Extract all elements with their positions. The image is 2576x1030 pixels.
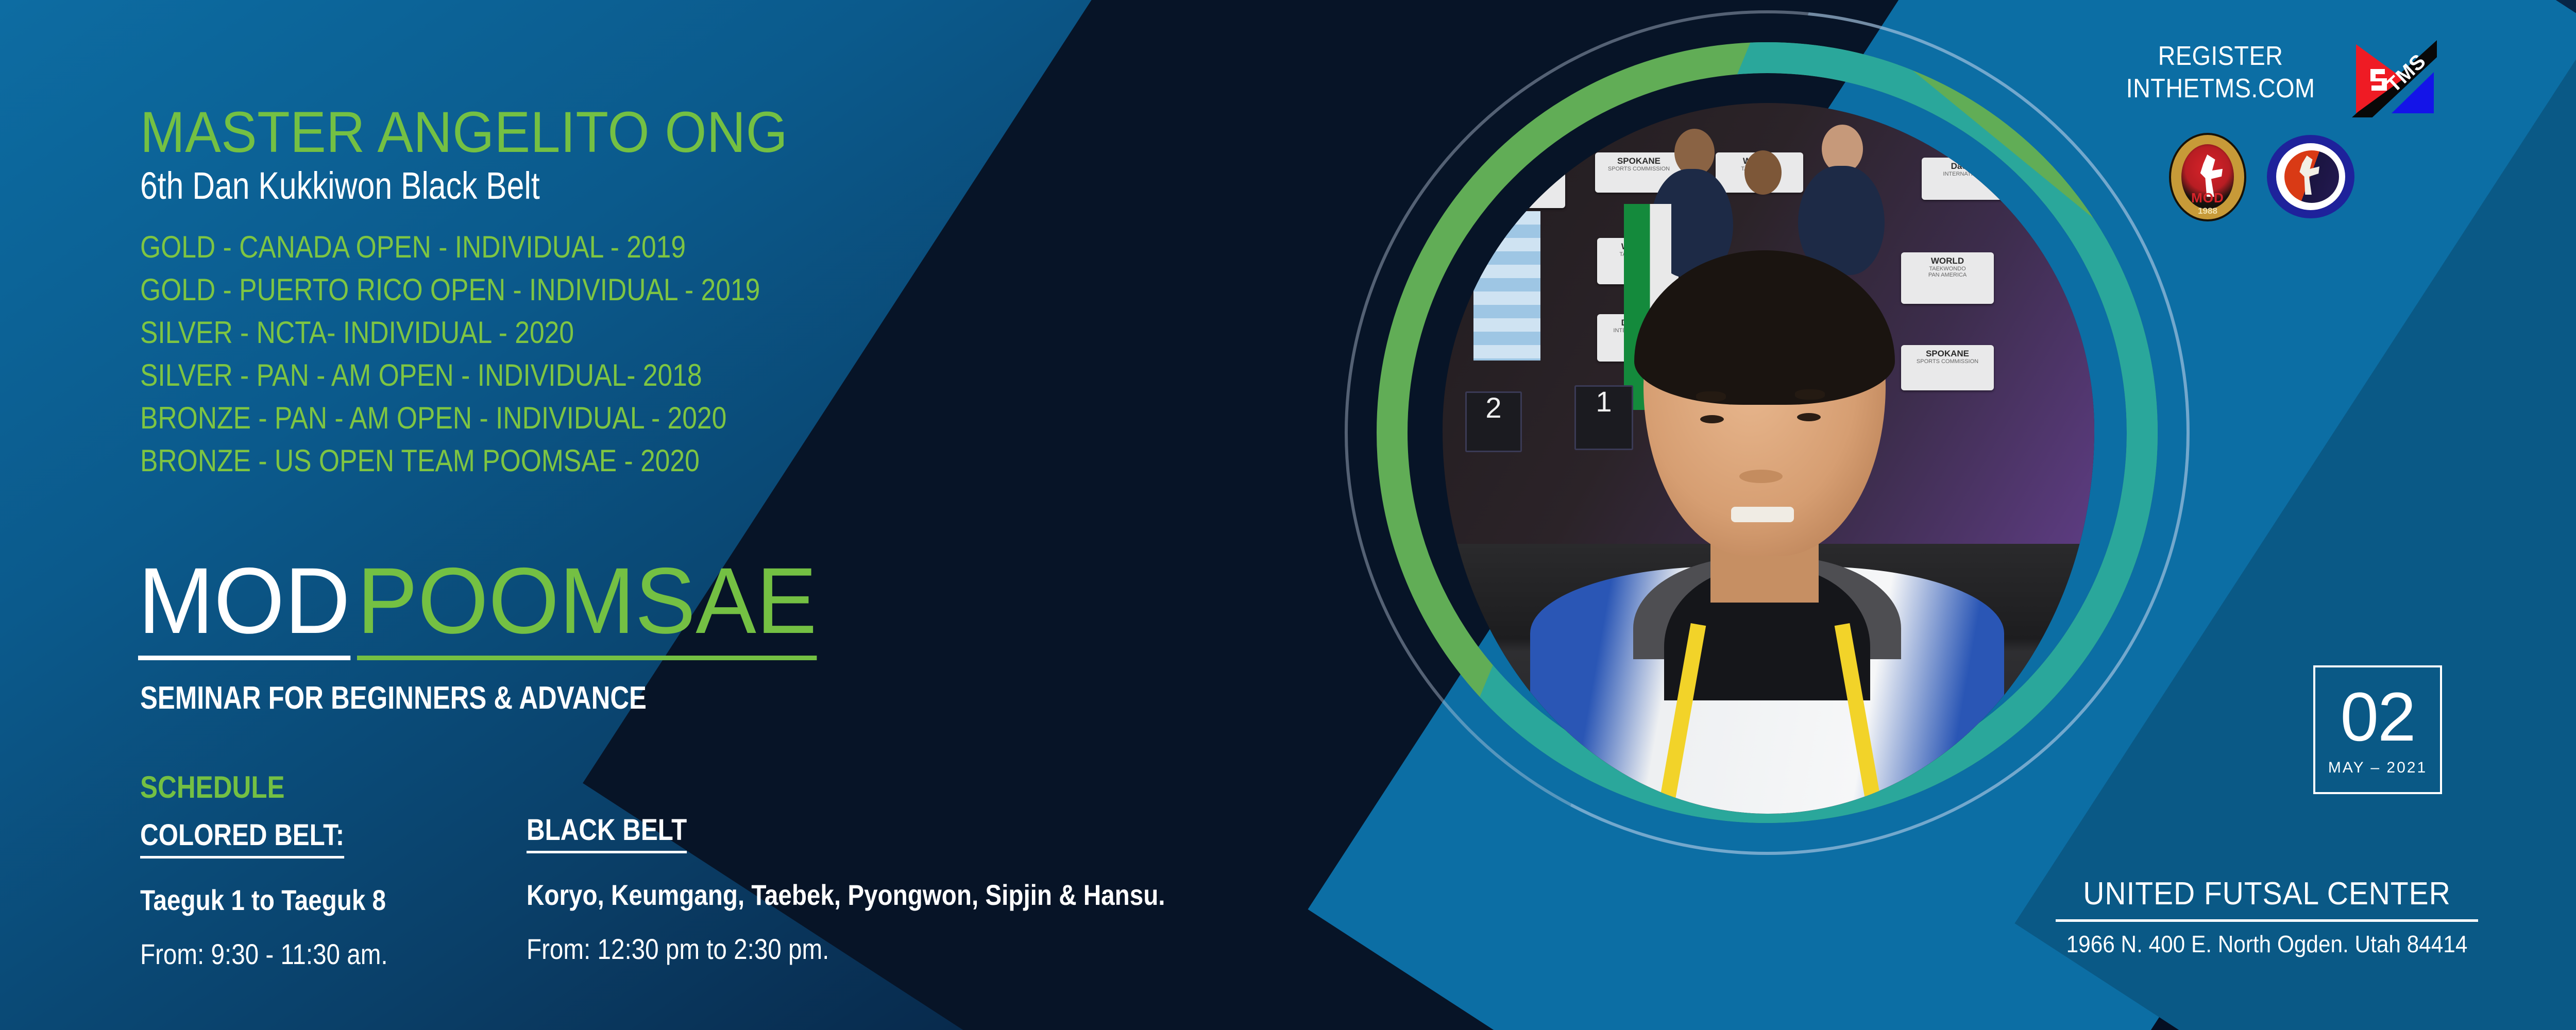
sponsor-card-daedo-top: Dae doINTERNATIONAL [1922, 158, 2009, 200]
event-date-box: 02 MAY – 2021 [2313, 665, 2442, 794]
photo-mouth [1731, 507, 1794, 522]
schedule-colored-belt: COLORED BELT: Taeguk 1 to Taeguk 8 From:… [140, 818, 431, 971]
photo-official-head-3 [1744, 150, 1782, 195]
venue-block: UNITED FUTSAL CENTER 1966 N. 400 E. Nort… [1994, 875, 2540, 958]
register-callout[interactable]: REGISTER INTHETMS.COM [2110, 40, 2331, 106]
sponsor-card-wt-panam: WORLDTAEKWONDOPAN AMERICA [1901, 252, 1994, 304]
award-item: SILVER - PAN - AM OPEN - INDIVIDUAL- 201… [140, 360, 760, 391]
photo-nose [1739, 470, 1783, 483]
award-item: GOLD - CANADA OPEN - INDIVIDUAL - 2019 [140, 232, 760, 263]
colored-belt-heading: COLORED BELT: [140, 818, 344, 859]
black-belt-heading: BLACK BELT [527, 813, 687, 853]
mod-martial-arts-logo-icon: MOD 1988 [2169, 133, 2246, 221]
event-title: MODPOOMSAE [138, 554, 831, 660]
award-item: BRONZE - PAN - AM OPEN - INDIVIDUAL - 20… [140, 403, 760, 434]
event-tagline: SEMINAR FOR BEGINNERS & ADVANCE [140, 680, 647, 716]
photo-eye-right [1797, 413, 1821, 421]
schedule-heading: SCHEDULE [140, 769, 285, 805]
awards-list: GOLD - CANADA OPEN - INDIVIDUAL - 2019 G… [140, 232, 861, 488]
colored-belt-time: From: 9:30 - 11:30 am. [140, 937, 388, 971]
black-belt-forms: Koryo, Keumgang, Taebek, Pyongwon, Sipji… [527, 878, 1165, 912]
sponsor-card-wt: WTWORLD TAEKWONDO [1488, 164, 1565, 208]
instructor-name: MASTER ANGELITO ONG [140, 99, 788, 165]
podium-number-1: 1 [1576, 387, 1632, 417]
mod-logo-name: MOD [2171, 190, 2244, 206]
mod-logo-year: 1988 [2171, 206, 2244, 216]
event-title-word-mod: MOD [138, 554, 350, 660]
black-belt-time: From: 12:30 pm to 2:30 pm. [527, 932, 1165, 966]
schedule-black-belt: BLACK BELT Koryo, Keumgang, Taebek, Pyon… [527, 813, 1278, 966]
podium-block-2: 2 [1465, 391, 1522, 452]
world-taekwondo-logo-icon [2267, 135, 2354, 218]
venue-name: UNITED FUTSAL CENTER [2015, 875, 2518, 912]
event-month-year: MAY – 2021 [2315, 759, 2440, 777]
register-url[interactable]: INTHETMS.COM [2121, 73, 2320, 105]
event-day: 02 [2315, 683, 2440, 752]
venue-divider [2056, 919, 2478, 922]
award-item: BRONZE - US OPEN TEAM POOMSAE - 2020 [140, 445, 760, 476]
photo-eye-left [1700, 415, 1724, 423]
podium-block-1: 1 [1574, 385, 1633, 450]
seminar-poster: WTWORLD TAEKWONDO SPOKANESPORTS COMMISSI… [0, 0, 2576, 1030]
colored-belt-forms: Taeguk 1 to Taeguk 8 [140, 883, 388, 917]
award-item: SILVER - NCTA- INDIVIDUAL - 2020 [140, 317, 760, 348]
register-label: REGISTER [2121, 40, 2320, 73]
instructor-rank: 6th Dan Kukkiwon Black Belt [140, 164, 540, 208]
wt-logo-core [2284, 150, 2339, 203]
sponsor-card-spokane: SPOKANESPORTS COMMISSION [1901, 345, 1994, 390]
award-item: GOLD - PUERTO RICO OPEN - INDIVIDUAL - 2… [140, 274, 760, 305]
instructor-photo: WTWORLD TAEKWONDO SPOKANESPORTS COMMISSI… [1443, 103, 2094, 814]
photo-eyebrow-left [1696, 391, 1726, 402]
event-title-word-poomsae: POOMSAE [357, 554, 817, 660]
photo-eyebrow-right [1795, 389, 1825, 400]
venue-address: 1966 N. 400 E. North Ogden. Utah 84414 [2015, 930, 2518, 958]
photo-flag-argentina [1473, 211, 1540, 360]
podium-number-2: 2 [1467, 393, 1520, 423]
photo-badge: WTWORLD TAEKWONDO SPOKANESPORTS COMMISSI… [1345, 10, 2190, 855]
tms-logo-icon: TMS [2352, 40, 2437, 117]
